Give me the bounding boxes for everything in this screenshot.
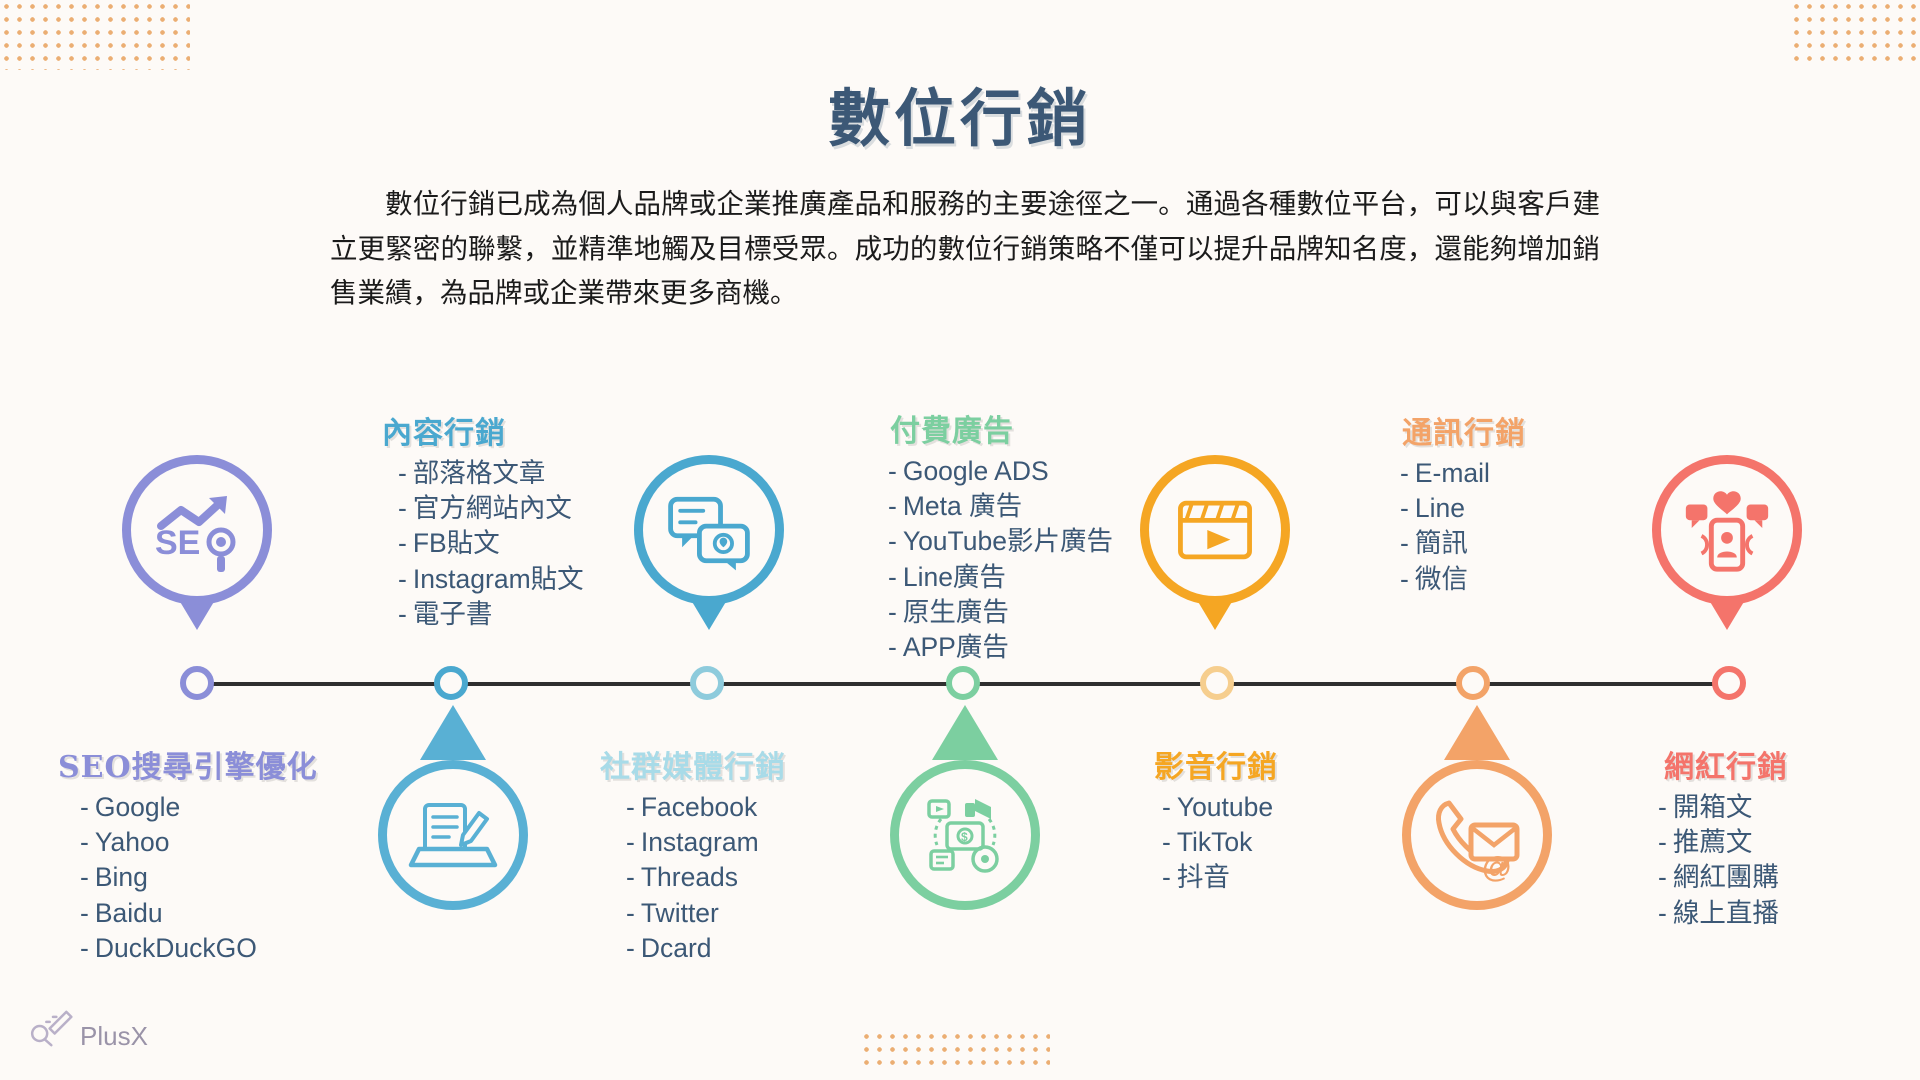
svg-text:SE: SE bbox=[155, 524, 200, 562]
brand-logo: PlusX bbox=[28, 1005, 148, 1052]
section-paidads: 付費廣告 -Google ADS -Meta 廣告 -YouTube影片廣告 -… bbox=[880, 406, 1113, 665]
list-item: -Baidu bbox=[58, 896, 318, 931]
speech-bubbles-icon bbox=[655, 476, 763, 584]
section-list-video: -Youtube -TikTok -抖音 bbox=[1148, 790, 1278, 896]
magnifier-pencil-icon bbox=[28, 1005, 78, 1052]
video-play-icon bbox=[1161, 476, 1269, 584]
list-item: -抖音 bbox=[1162, 860, 1278, 895]
list-item: -YouTube影片廣告 bbox=[888, 524, 1113, 559]
marker-video[interactable] bbox=[1140, 455, 1290, 605]
marker-tail bbox=[420, 705, 486, 760]
timeline-node-video bbox=[1200, 666, 1234, 700]
list-item: -Yahoo bbox=[58, 825, 318, 860]
page-title: 數位行銷 bbox=[0, 68, 1920, 158]
list-item: -E-mail bbox=[1400, 456, 1526, 491]
list-item: -DuckDuckGO bbox=[58, 931, 318, 966]
list-item: -TikTok bbox=[1162, 825, 1278, 860]
marker-influencer[interactable] bbox=[1652, 455, 1802, 605]
timeline-node-messaging bbox=[1456, 666, 1490, 700]
timeline-node-content bbox=[434, 666, 468, 700]
dot-grid-decoration-top-left bbox=[0, 0, 190, 70]
section-title-social: 社群媒體行銷 bbox=[600, 742, 786, 786]
section-messaging: 通訊行銷 -E-mail -Line -簡訊 -微信 bbox=[1392, 408, 1526, 597]
megaphone-target-icon: $ bbox=[909, 779, 1021, 891]
phone-email-icon: @ bbox=[1421, 779, 1533, 891]
timeline-node-paidads bbox=[946, 666, 980, 700]
marker-tail bbox=[932, 705, 998, 760]
logo-text: PlusX bbox=[80, 1021, 148, 1052]
list-item: -Twitter bbox=[626, 896, 786, 931]
section-influencer: 網紅行銷 -開箱文 -推薦文 -網紅團購 -線上直播 bbox=[1650, 742, 1788, 931]
marker-paidads[interactable]: $ bbox=[890, 730, 1040, 880]
section-title-seo: SEO搜尋引擎優化 bbox=[58, 742, 318, 786]
section-list-content: -部落格文章 -官方網站內文 -FB貼文 -Instagram貼文 -電子書 bbox=[372, 456, 584, 632]
marker-messaging[interactable]: @ bbox=[1402, 730, 1552, 880]
dot-grid-decoration-bottom-center bbox=[860, 1030, 1050, 1070]
section-list-paidads: -Google ADS -Meta 廣告 -YouTube影片廣告 -Line廣… bbox=[880, 454, 1113, 665]
timeline-node-social bbox=[690, 666, 724, 700]
marker-tail bbox=[1444, 705, 1510, 760]
section-title-video: 影音行銷 bbox=[1148, 742, 1278, 786]
list-item: -Line廣告 bbox=[888, 560, 1113, 595]
list-item: -Threads bbox=[626, 860, 786, 895]
list-item: -電子書 bbox=[398, 597, 584, 632]
list-item: -Youtube bbox=[1162, 790, 1278, 825]
list-item: -線上直播 bbox=[1658, 896, 1788, 931]
timeline-node-seo bbox=[180, 666, 214, 700]
list-item: -APP廣告 bbox=[888, 630, 1113, 665]
marker-social[interactable] bbox=[378, 730, 528, 880]
list-item: -Meta 廣告 bbox=[888, 489, 1113, 524]
marker-content[interactable] bbox=[634, 455, 784, 605]
infographic-page: 數位行銷 數位行銷已成為個人品牌或企業推廣產品和服務的主要途徑之一。通過各種數位… bbox=[0, 0, 1920, 1080]
section-content: 內容行銷 -部落格文章 -官方網站內文 -FB貼文 -Instagram貼文 -… bbox=[372, 408, 584, 632]
list-item: -Google ADS bbox=[888, 454, 1113, 489]
list-item: -簡訊 bbox=[1400, 526, 1526, 561]
list-item: -Google bbox=[58, 790, 318, 825]
marker-seo[interactable]: SE bbox=[122, 455, 272, 605]
timeline-node-influencer bbox=[1712, 666, 1746, 700]
svg-text:$: $ bbox=[961, 830, 968, 844]
section-list-influencer: -開箱文 -推薦文 -網紅團購 -線上直播 bbox=[1650, 790, 1788, 931]
list-item: -FB貼文 bbox=[398, 526, 584, 561]
section-title-messaging: 通訊行銷 bbox=[1392, 408, 1526, 452]
section-title-paidads: 付費廣告 bbox=[880, 406, 1113, 450]
list-item: -Line bbox=[1400, 491, 1526, 526]
list-item: -官方網站內文 bbox=[398, 491, 584, 526]
laptop-document-pen-icon bbox=[397, 779, 509, 891]
section-social: 社群媒體行銷 -Facebook -Instagram -Threads -Tw… bbox=[600, 742, 786, 966]
svg-text:@: @ bbox=[1482, 851, 1511, 884]
section-title-content: 內容行銷 bbox=[372, 408, 584, 452]
section-title-influencer: 網紅行銷 bbox=[1650, 742, 1788, 786]
section-list-messaging: -E-mail -Line -簡訊 -微信 bbox=[1392, 456, 1526, 597]
list-item: -網紅團購 bbox=[1658, 860, 1788, 895]
section-list-social: -Facebook -Instagram -Threads -Twitter -… bbox=[600, 790, 786, 966]
list-item: -Instagram貼文 bbox=[398, 562, 584, 597]
phone-heart-review-icon bbox=[1673, 476, 1781, 584]
list-item: -Instagram bbox=[626, 825, 786, 860]
section-list-seo: -Google -Yahoo -Bing -Baidu -DuckDuckGO bbox=[58, 790, 318, 966]
list-item: -Dcard bbox=[626, 931, 786, 966]
list-item: -原生廣告 bbox=[888, 595, 1113, 630]
list-item: -推薦文 bbox=[1658, 825, 1788, 860]
list-item: -微信 bbox=[1400, 562, 1526, 597]
list-item: -Facebook bbox=[626, 790, 786, 825]
seo-chart-magnifier-icon: SE bbox=[143, 476, 251, 584]
list-item: -開箱文 bbox=[1658, 790, 1788, 825]
intro-paragraph: 數位行銷已成為個人品牌或企業推廣產品和服務的主要途徑之一。通過各種數位平台，可以… bbox=[330, 182, 1600, 316]
list-item: -Bing bbox=[58, 860, 318, 895]
section-video: 影音行銷 -Youtube -TikTok -抖音 bbox=[1148, 742, 1278, 896]
dot-grid-decoration-top-right bbox=[1790, 0, 1920, 62]
section-seo: SEO搜尋引擎優化 -Google -Yahoo -Bing -Baidu -D… bbox=[58, 742, 318, 966]
list-item: -部落格文章 bbox=[398, 456, 584, 491]
